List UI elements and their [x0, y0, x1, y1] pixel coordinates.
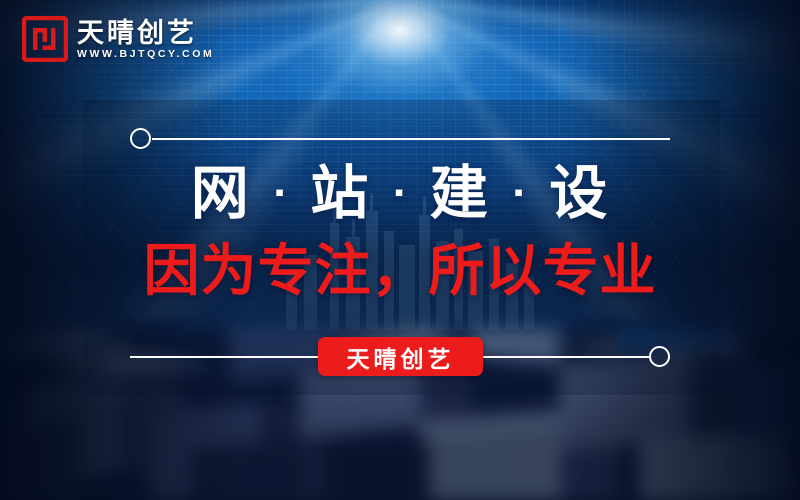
brand-badge[interactable]: 天晴创艺 — [318, 337, 483, 376]
decor-rule-bottom-right — [480, 356, 650, 358]
decor-rule-bottom-left — [130, 356, 320, 358]
decor-circle-bottom-right — [649, 346, 670, 367]
headline-char-1: 网 — [191, 161, 251, 226]
headline-separator-1: ▪ — [275, 179, 286, 205]
headline-char-3: 建 — [430, 161, 490, 226]
headline-char-2: 站 — [310, 161, 370, 226]
website-construction-banner: 天晴创艺 WWW.BJTQCY.COM 网 ▪ 站 ▪ 建 ▪ 设 因为专注，所… — [0, 0, 800, 500]
logo-text-block: 天晴创艺 WWW.BJTQCY.COM — [77, 19, 214, 60]
logo-mark-icon — [22, 16, 68, 62]
decor-rule-top — [152, 138, 670, 140]
logo-brand-name: 天晴创艺 — [77, 19, 214, 47]
headline-title: 网 ▪ 站 ▪ 建 ▪ 设 — [0, 165, 800, 223]
headline-char-4: 设 — [549, 161, 609, 226]
brand-logo[interactable]: 天晴创艺 WWW.BJTQCY.COM — [22, 16, 214, 62]
logo-website-url: WWW.BJTQCY.COM — [77, 49, 214, 60]
headline-separator-3: ▪ — [514, 179, 525, 205]
decor-circle-top-left — [130, 128, 151, 149]
headline-separator-2: ▪ — [394, 179, 405, 205]
slogan-text: 因为专注，所以专业 — [0, 243, 800, 299]
